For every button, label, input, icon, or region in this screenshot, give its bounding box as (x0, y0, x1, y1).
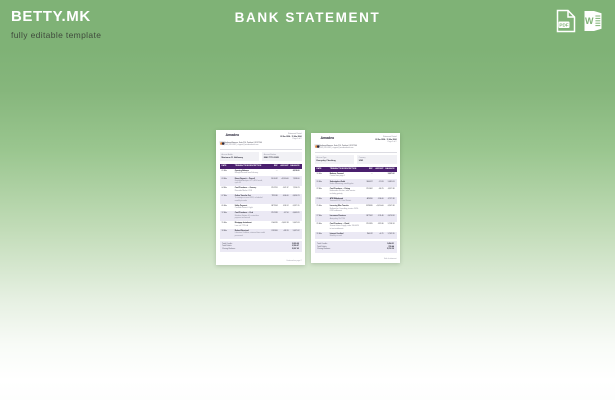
description-sub: Cascade Power & Light (235, 207, 265, 209)
cell-amount: -67.50 (278, 212, 289, 214)
cell-description: ATM WithdrawalTerminal 0912, Pearl Distr… (330, 198, 361, 203)
statement-meta: Statement Period 01 Mar 2024 - 31 Mar 20… (280, 133, 301, 141)
table-row: 22 MarCard Purchase — DiningHarbourline … (315, 187, 397, 197)
statement-page-1[interactable]: Amadeo Statement Period 01 Mar 2024 - 31… (216, 130, 305, 265)
col-date: DATE (222, 165, 235, 167)
cell-balance: 5,097.62 (384, 173, 395, 175)
table-row: 12 MarCard Purchase — FuelMeridian Stati… (220, 211, 302, 221)
info-value: Everyday Checking (317, 160, 353, 163)
bank-logo-icon (315, 136, 320, 141)
cell-date: 22 Mar (317, 188, 330, 190)
cell-description: Insurance PremiumAuto policy 55-7734 (330, 215, 361, 220)
description-sub: Monthly accrual (330, 235, 360, 237)
table-body: 19 MarBalance ForwardCarried from page 1… (315, 172, 397, 239)
summary-value: 5,097.62 (292, 248, 299, 251)
table-row: 29 MarCard Purchase — RetailSummit Home … (315, 222, 397, 232)
cell-reference: PD2318 (266, 212, 278, 214)
bank-name: Amadeo (321, 137, 335, 141)
cell-date: 29 Mar (317, 223, 330, 225)
col-amount: AMOUNT (278, 165, 289, 167)
divider (220, 149, 302, 150)
cell-description: Card Purchase — FuelMeridian Station 44,… (235, 212, 266, 219)
cell-date: 27 Mar (317, 215, 330, 217)
cell-date: 23 Mar (317, 198, 330, 200)
cell-amount: -312.80 (373, 223, 384, 225)
cell-date: 04 Mar (222, 187, 235, 189)
cell-amount: +1,450.00 (373, 205, 384, 207)
description-sub: Lakeview Outfitters, returned item credi… (235, 232, 265, 237)
cell-balance: 5,758.18 (384, 223, 395, 225)
cell-description: Interest CreditedMonthly accrual (330, 233, 361, 238)
cell-date: 09 Mar (222, 205, 235, 207)
statement-page-2[interactable]: Amadeo Statement Period 01 Mar 2024 - 31… (311, 133, 400, 263)
cell-balance: 5,007.63 (289, 222, 300, 224)
cell-balance: 5,097.62 (289, 230, 300, 232)
footer-text: End of statement (315, 258, 397, 261)
cell-reference: WT8820 (361, 205, 373, 207)
footer-text: Continued on page 2 (220, 260, 302, 263)
divider (315, 152, 397, 153)
cell-amount: -600.00 (278, 195, 289, 197)
cell-reference: — (361, 173, 373, 175)
cell-reference: RF1106 (266, 230, 278, 232)
info-value: 8042 7719 0365 (264, 157, 300, 160)
cell-balance: 4,797.38 (384, 198, 395, 200)
table-row: 31 MarInterest CreditedMonthly accrualIN… (315, 232, 397, 240)
cell-date: 31 Mar (317, 233, 330, 235)
bank-logo: Amadeo (315, 136, 335, 141)
page-footer: Continued on page 2 (220, 258, 302, 263)
bank-address: 1240 Westbrook Avenue, Suite 210, Portla… (220, 142, 302, 147)
description-sub: Helios Streaming, monthly plan (330, 183, 360, 185)
col-reference: REF (361, 168, 373, 170)
description-sub: Northfield Analytics LLC, ACH credit, cy… (235, 180, 265, 185)
cell-balance: 5,081.63 (384, 181, 395, 183)
cell-description: Card Purchase — DiningHarbourline Kitche… (330, 188, 361, 195)
cell-date: 03 Mar (222, 178, 235, 180)
cell-reference: PD2402 (361, 188, 373, 190)
bank-logo: Amadeo (220, 133, 240, 138)
description-sub: Terminal 0912, Pearl District (330, 200, 360, 202)
info-card-holder: Account Holder Marianne R. Holloway (220, 152, 260, 161)
description-sub: Riverside Market #218 (235, 190, 265, 192)
cell-balance: 4,997.38 (384, 188, 395, 190)
info-card-currency: Currency USD (357, 155, 397, 164)
cell-balance: 5,762.39 (384, 233, 395, 235)
account-info-row: Account Holder Marianne R. Holloway Acco… (220, 152, 302, 161)
col-amount: AMOUNT (373, 168, 384, 170)
description-sub: Brought forward from February (235, 172, 265, 174)
table-row: 07 MarOnline Transfer OutTo savings acco… (220, 194, 302, 204)
cell-reference: — (266, 170, 278, 172)
bank-logo-icon (220, 133, 225, 138)
table-row: 01 MarOpening BalanceBrought forward fro… (220, 169, 302, 177)
cell-reference: SB4417 (361, 181, 373, 183)
cell-balance: 6,656.23 (289, 195, 300, 197)
cell-reference: LN0099 (266, 222, 278, 224)
cell-date: 20 Mar (317, 181, 330, 183)
account-info-row: Account Type Everyday Checking Currency … (315, 155, 397, 164)
table-row: 25 MarIncoming Wire TransferBellweather … (315, 204, 397, 214)
address-line-2: Tel +1 (503) 555-0182 | support@amadeoba… (315, 147, 397, 149)
description-sub: Auto policy 55-7734 (330, 218, 360, 220)
cell-reference: BP7902 (361, 215, 373, 217)
table-row: 27 MarInsurance PremiumAuto policy 55-77… (315, 214, 397, 222)
cell-date: 19 Mar (317, 173, 330, 175)
cell-reference: PD2455 (361, 223, 373, 225)
cell-amount: -118.92 (278, 205, 289, 207)
cell-description: Opening BalanceBrought forward from Febr… (235, 170, 266, 175)
cell-description: Direct Deposit — PayrollNorthfield Analy… (235, 178, 266, 185)
col-description: TRANSACTION DESCRIPTION (330, 168, 361, 170)
cell-description: Card Purchase — RetailSummit Home Supply… (330, 223, 361, 230)
document-preview-area: Amadeo Statement Period 01 Mar 2024 - 31… (0, 0, 615, 400)
cell-amount: +89.99 (278, 230, 289, 232)
cell-amount: -200.00 (373, 198, 384, 200)
cell-balance: 7,256.23 (289, 187, 300, 189)
meta-page-number: Page 2 of 2 (375, 141, 396, 144)
info-card-account: Account Number 8042 7719 0365 (262, 152, 302, 161)
cell-reference: IN0012 (361, 233, 373, 235)
info-card-type: Account Type Everyday Checking (315, 155, 355, 164)
summary-label: Closing Balance (222, 248, 235, 251)
description-sub: Bellweather Consulting, invoice 2024-031… (330, 208, 360, 213)
cell-description: Utility PaymentCascade Power & Light (235, 205, 266, 210)
cell-date: 15 Mar (222, 222, 235, 224)
cell-reference: BP7814 (266, 205, 278, 207)
cell-description: Mortgage InstalmentLoan ref 77210-A (235, 222, 266, 227)
cell-date: 18 Mar (222, 230, 235, 232)
cell-amount: +4.21 (373, 233, 384, 235)
description-sub: Loan ref 77210-A (235, 225, 265, 227)
col-balance: BALANCE (384, 168, 395, 170)
cell-balance: 6,537.31 (289, 205, 300, 207)
cell-reference: DD1042 (266, 178, 278, 180)
table-row: 04 MarCard Purchase — GroceryRiverside M… (220, 186, 302, 194)
transactions-table: DATE TRANSACTION DESCRIPTION REF AMOUNT … (220, 164, 302, 239)
table-row: 19 MarBalance ForwardCarried from page 1… (315, 172, 397, 180)
page-header: Amadeo Statement Period 01 Mar 2024 - 31… (315, 136, 397, 144)
summary-row: Closing Balance 5,097.62 (222, 248, 299, 251)
table-body: 01 MarOpening BalanceBrought forward fro… (220, 169, 302, 239)
cell-amount: -15.99 (373, 181, 384, 183)
summary-block: Total Credits 3,269.99 Total Debits 2,39… (220, 241, 302, 253)
cell-description: Balance ForwardCarried from page 1 (330, 173, 361, 178)
table-row: 23 MarATM WithdrawalTerminal 0912, Pearl… (315, 197, 397, 205)
description-sub: Summit Home Supply, order 118-4420 in tw… (330, 225, 360, 230)
cell-date: 12 Mar (222, 212, 235, 214)
transactions-table: DATE TRANSACTION DESCRIPTION REF AMOUNT … (315, 167, 397, 240)
cell-date: 01 Mar (222, 170, 235, 172)
bank-address: 1240 Westbrook Avenue, Suite 210, Portla… (315, 145, 397, 150)
description-sub: Meridian Station 44, contactless payment… (235, 215, 265, 220)
col-description: TRANSACTION DESCRIPTION (235, 165, 266, 167)
page-footer: End of statement (315, 256, 397, 261)
address-line-2: Tel +1 (503) 555-0182 | support@amadeoba… (220, 144, 302, 146)
table-row: 09 MarUtility PaymentCascade Power & Lig… (220, 204, 302, 212)
description-sub: To savings account 3391, scheduled month… (235, 197, 265, 202)
table-row: 03 MarDirect Deposit — PayrollNorthfield… (220, 176, 302, 186)
statement-meta: Statement Period 01 Mar 2024 - 31 Mar 20… (375, 136, 396, 144)
info-value: USD (359, 160, 395, 163)
cell-amount: +3,180.00 (278, 178, 289, 180)
description-sub: Carried from page 1 (330, 175, 360, 177)
cell-description: Card Purchase — GroceryRiverside Market … (235, 187, 266, 192)
cell-balance: 7,398.60 (289, 178, 300, 180)
page-header: Amadeo Statement Period 01 Mar 2024 - 31… (220, 133, 302, 141)
cell-balance: 4,218.60 (289, 170, 300, 172)
cell-balance: 6,247.38 (384, 205, 395, 207)
cell-reference: PD2291 (266, 187, 278, 189)
cell-balance: 6,070.98 (384, 215, 395, 217)
cell-description: Subscription DebitHelios Streaming, mont… (330, 181, 361, 186)
cell-reference: TR5530 (266, 195, 278, 197)
cell-amount: -176.40 (373, 215, 384, 217)
cell-balance: 6,469.81 (289, 212, 300, 214)
cell-amount: -1,462.18 (278, 222, 289, 224)
cell-amount: -142.37 (278, 187, 289, 189)
cell-description: Incoming Wire TransferBellweather Consul… (330, 205, 361, 212)
cell-amount: -84.25 (373, 188, 384, 190)
col-balance: BALANCE (289, 165, 300, 167)
table-row: 15 MarMortgage InstalmentLoan ref 77210-… (220, 221, 302, 229)
info-value: Marianne R. Holloway (222, 157, 258, 160)
summary-block: Total Credits 1,454.21 Total Debits 789.… (315, 241, 397, 253)
cell-description: Online Transfer OutTo savings account 33… (235, 195, 266, 202)
bank-name: Amadeo (226, 134, 240, 138)
meta-page-number: Page 1 of 2 (280, 138, 301, 141)
table-row: 18 MarRefund ReceivedLakeview Outfitters… (220, 229, 302, 239)
cell-date: 25 Mar (317, 205, 330, 207)
col-reference: REF (266, 165, 278, 167)
summary-row: Closing Balance 5,762.39 (317, 248, 394, 251)
cell-reference: AT6650 (361, 198, 373, 200)
summary-label: Closing Balance (317, 248, 330, 251)
cell-date: 07 Mar (222, 195, 235, 197)
summary-value: 5,762.39 (387, 248, 394, 251)
cell-description: Refund ReceivedLakeview Outfitters, retu… (235, 230, 266, 237)
description-sub: Harbourline Kitchen, table service inclu… (330, 190, 360, 195)
table-row: 20 MarSubscription DebitHelios Streaming… (315, 179, 397, 187)
col-date: DATE (317, 168, 330, 170)
